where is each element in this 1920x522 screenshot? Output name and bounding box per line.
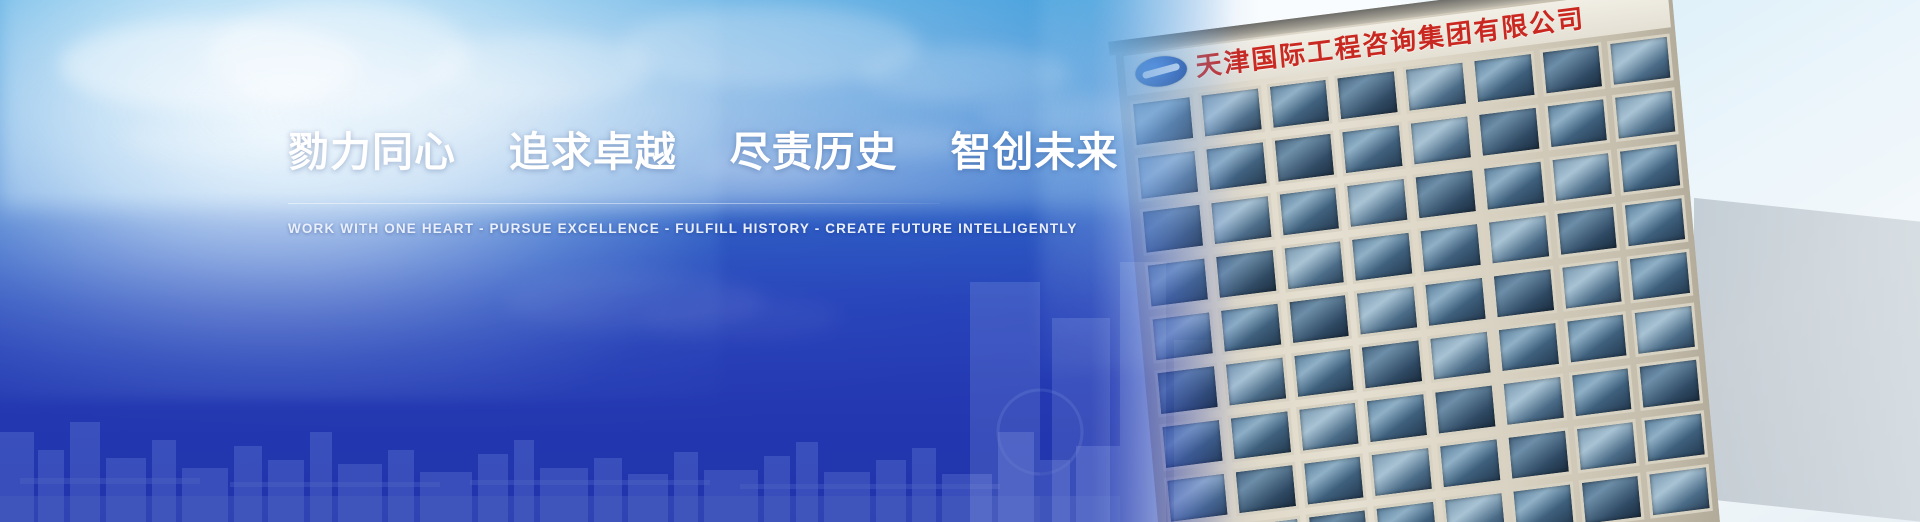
office-building-photo: 天津国际工程咨询集团有限公司 [1020, 0, 1920, 522]
window [1412, 167, 1479, 222]
window [1471, 51, 1538, 106]
window [1369, 445, 1436, 500]
window [1637, 356, 1704, 411]
window [1349, 229, 1416, 284]
window [1622, 195, 1689, 250]
window [1403, 59, 1470, 114]
headquarters-tower: 天津国际工程咨询集团有限公司 [1114, 0, 1720, 522]
window [1505, 427, 1572, 482]
window [1164, 470, 1231, 522]
window [1549, 150, 1616, 205]
headline-segment-2: 追求卓越 [509, 128, 677, 177]
window [1427, 328, 1494, 383]
window [1276, 184, 1343, 239]
window [1281, 238, 1348, 293]
window [1481, 158, 1548, 213]
hero-banner: 天津国际工程咨询集团有限公司 [0, 0, 1920, 522]
window [1227, 408, 1294, 463]
window [1222, 354, 1289, 409]
window [1159, 417, 1226, 472]
window [1641, 410, 1708, 465]
hero-copy: 勠力同心 追求卓越 尽责历史 智创未来 WORK WITH ONE HEART … [288, 128, 988, 236]
headline-segment-3: 尽责历史 [730, 128, 898, 177]
headline-segment-4: 智创未来 [950, 128, 1118, 177]
window [1563, 311, 1630, 366]
window [1374, 498, 1441, 522]
window-grid [1130, 33, 1715, 522]
window [1130, 94, 1197, 149]
page-title: 勠力同心 追求卓越 尽责历史 智创未来 [288, 128, 988, 177]
window [1339, 122, 1406, 177]
window [1476, 104, 1543, 159]
window [1237, 516, 1304, 522]
window [1364, 391, 1431, 446]
window [1646, 464, 1713, 519]
window [1154, 363, 1221, 418]
window [1437, 436, 1504, 491]
window [1559, 257, 1626, 312]
window [1203, 139, 1270, 194]
window [1632, 302, 1699, 357]
divider [288, 203, 940, 204]
window [1213, 247, 1280, 302]
window [1144, 255, 1211, 310]
window [1286, 292, 1353, 347]
window [1544, 96, 1611, 151]
window [1334, 68, 1401, 123]
window [1495, 320, 1562, 375]
window [1266, 77, 1333, 132]
window [1296, 399, 1363, 454]
window [1218, 300, 1285, 355]
window [1510, 481, 1577, 522]
window [1568, 365, 1635, 420]
window [1500, 374, 1567, 429]
adjacent-building [1694, 198, 1920, 522]
window [1198, 85, 1265, 140]
window [1490, 266, 1557, 321]
window [1627, 249, 1694, 304]
window [1149, 309, 1216, 364]
cloud-icon [210, 0, 470, 110]
window [1359, 337, 1426, 392]
headline-segment-1: 勠力同心 [288, 128, 456, 177]
company-oval-logo [1134, 53, 1188, 89]
window [1417, 221, 1484, 276]
window [1539, 42, 1606, 97]
window [1291, 346, 1358, 401]
window [1135, 148, 1202, 203]
window [1422, 275, 1489, 330]
hero-subtitle: WORK WITH ONE HEART - PURSUE EXCELLENCE … [288, 221, 988, 236]
window [1232, 462, 1299, 517]
window [1485, 212, 1552, 267]
window [1208, 193, 1275, 248]
window [1617, 141, 1684, 196]
window [1140, 201, 1207, 256]
cloud-icon [430, 34, 650, 104]
window [1554, 203, 1621, 258]
window [1300, 453, 1367, 508]
window [1305, 507, 1372, 522]
window [1432, 382, 1499, 437]
window [1578, 473, 1645, 522]
window [1344, 176, 1411, 231]
window [1607, 33, 1674, 88]
window [1354, 283, 1421, 338]
window [1407, 113, 1474, 168]
window [1612, 87, 1679, 142]
window [1573, 419, 1640, 474]
window [1271, 130, 1338, 185]
window [1442, 490, 1509, 522]
